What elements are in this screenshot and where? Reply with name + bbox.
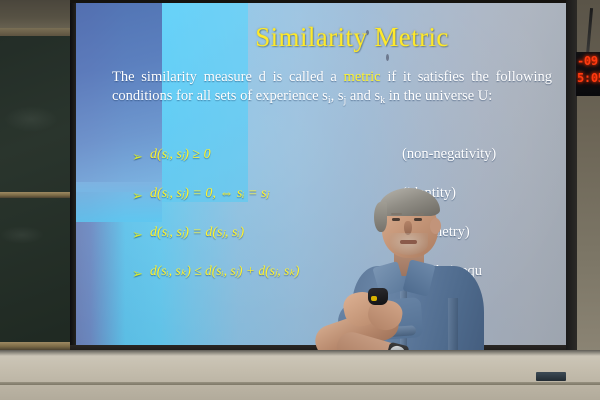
led-sign-line-2: 5:05 (577, 71, 600, 85)
presenter-eyebrow-left (391, 213, 402, 215)
highlighted-term-metric: metric (344, 69, 381, 85)
bullet-equation: d(sᵢ, sⱼ) = 0, ⇔ sᵢ = sⱼ (150, 185, 269, 202)
subscript-k: k (380, 95, 385, 106)
presenter-eye-right (414, 218, 422, 221)
bullet-equation: d(sᵢ, sₖ) ≤ d(sᵢ, sⱼ) + d(sⱼ, sₖ) (150, 263, 300, 279)
bullet-arrow-icon: ➢ (132, 149, 143, 165)
bullet-equation: d(sᵢ, sⱼ) ≥ 0 (150, 146, 211, 163)
presenter-hair-side (374, 202, 387, 232)
presenter-eyebrow-right (413, 213, 424, 215)
presenter-hair (378, 188, 440, 216)
presenter-beard (390, 233, 428, 255)
slide-body-text: The similarity measure d is called a met… (112, 68, 552, 107)
bullet-arrow-icon: ➢ (132, 266, 143, 282)
presenter-eye-left (392, 218, 400, 221)
clicker-button[interactable] (371, 296, 377, 301)
bullet-label: (non-negativity) (402, 146, 496, 163)
body-text-post-3: and s (346, 88, 380, 104)
slide-title: Similarity Metric (76, 22, 568, 53)
bullet-equation: d(sᵢ, sⱼ) = d(sⱼ, sᵢ) (150, 224, 244, 241)
presenter-ear (430, 218, 441, 234)
lower-wall (0, 350, 600, 400)
desk-object (536, 372, 566, 381)
led-sign-line-1: -09 (577, 54, 598, 68)
upper-wall-trim (0, 28, 80, 36)
screen-frame-top (70, 0, 572, 3)
screen-frame-left (70, 0, 76, 356)
subscript-i: i (328, 95, 331, 106)
lower-wall-shadow (0, 350, 600, 356)
subscript-j: j (344, 95, 347, 106)
lecture-room-photo: Similarity Metric The similarity measure… (0, 0, 600, 400)
led-clock-sign: -09 5:05 (575, 52, 600, 96)
chalkboard-ledge-middle (0, 192, 78, 198)
body-text-pre: The similarity measure d is called a (112, 69, 344, 85)
presenter-mouth (400, 240, 417, 244)
upper-wall (0, 0, 80, 30)
chalk-smudge (4, 106, 58, 132)
chalkboard-ledge-bottom (0, 342, 78, 350)
body-text-post-4: in the universe U: (385, 88, 492, 104)
bullet-arrow-icon: ➢ (132, 188, 143, 204)
lower-wall-edge (0, 382, 600, 385)
bullet-arrow-icon: ➢ (132, 227, 143, 243)
bullet-item-non-negativity: ➢ d(sᵢ, sⱼ) ≥ 0 (non-negativity) (132, 146, 562, 185)
screen-speck (386, 54, 389, 61)
body-text-post-2: , s (331, 88, 344, 104)
chalk-smudge (0, 226, 44, 244)
